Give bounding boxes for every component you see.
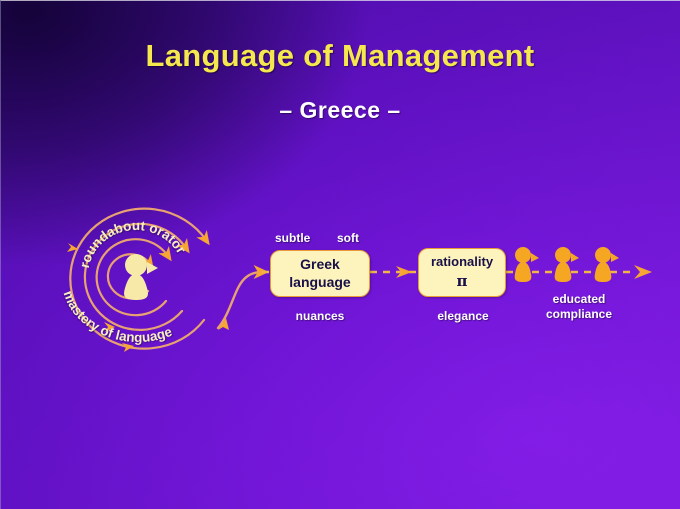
spiral-outer-label: mastery of language: [61, 289, 175, 345]
person-icon: [124, 254, 158, 300]
label-soft: soft: [337, 231, 359, 245]
label-nuances: nuances: [282, 309, 358, 323]
node-rationality[interactable]: rationality π: [418, 248, 506, 297]
label-elegance: elegance: [427, 309, 499, 323]
node-greek-line1: Greek: [300, 256, 340, 273]
slide-canvas: Language of Management – Greece –: [0, 0, 680, 509]
outcome-figure-2: [555, 247, 579, 282]
connector-arrowhead-end: [634, 265, 652, 279]
label-educated-compliance: educated compliance: [521, 292, 637, 322]
node-greek-line2: language: [289, 274, 350, 291]
pi-symbol: π: [457, 272, 468, 290]
outcome-figure-1: [515, 247, 539, 282]
label-subtle: subtle: [275, 231, 310, 245]
outcome-figure-3: [595, 247, 619, 282]
node-greek-language[interactable]: Greek language: [270, 250, 370, 297]
spiral-exit-path: [218, 272, 262, 328]
node-rationality-line1: rationality: [431, 254, 493, 270]
